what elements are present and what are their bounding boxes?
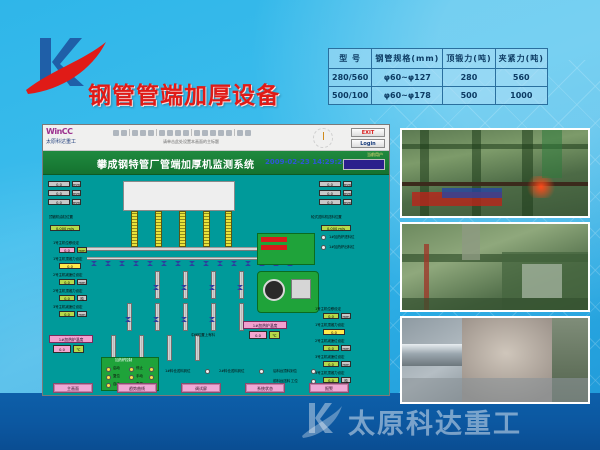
setpoint-label: 2号主机顶锻力设定 [53,289,82,294]
cell-upset-force: 500 [443,87,495,105]
right-readout-1-unit: mm [343,181,352,187]
col-header-upset-force: 顶锻力(吨) [443,49,495,69]
cell-upset-force: 280 [443,69,495,87]
analog-clock-icon [313,128,333,148]
left-readout-3: 0.0 [48,199,70,205]
setpoint-label: 1号主机顶锻力设定 [315,323,344,328]
status-lamp [259,369,264,374]
col-header-clamp-force: 夹紧力(吨) [495,49,547,69]
valve-icon [203,261,209,266]
setpoint-label: 1号主机顶锻力设定 [53,257,82,262]
setpoint-value[interactable]: 0.0 [59,311,75,317]
right-group-title: 轮式送料机送料位置 [311,215,342,220]
person-icon[interactable] [183,130,189,136]
right-readout-1: 0.0 [319,181,341,187]
setpoint-unit: 吨 [77,295,87,301]
cell-clamp-force: 1000 [495,87,547,105]
setpoint-unit: mm [77,311,87,317]
right-readout-2: 0.0 [319,190,341,196]
heater-column [203,211,210,247]
setpoint-label: 1号主机位移设定 [315,307,341,312]
current-user-field[interactable] [343,159,385,170]
right-readout-3-unit: mm [343,199,352,205]
setpoint-value[interactable]: 0.0 [323,345,339,351]
cell-pipe-spec: φ60~φ127 [372,69,443,87]
exit-button[interactable]: EXIT [351,128,385,137]
left-readout-1: 0.0 [48,181,70,187]
hot-bar-indicator [261,237,287,242]
setpoint-label: 1号主机位移设定 [53,241,79,246]
header: 钢管管端加厚设备 [0,30,340,100]
wincc-logo: WinCC 太原科达重工 [46,127,108,149]
hydraulic-cylinder [195,335,200,361]
valve-icon [245,261,251,266]
furnace-temp-unit: ℃ [73,345,84,353]
table-row: 280/560 φ60~φ127 280 560 [329,69,548,87]
nav-button-main[interactable]: 主画面 [53,383,93,393]
setpoint-label: 3号主机减速位设定 [315,355,344,360]
furnace-temp-label: 1#加热炉温度 [49,335,93,343]
left-readout-3-unit: mm [72,199,81,205]
sensor-led [321,235,326,240]
center-note: 中间位置上有料 [191,333,215,338]
keda-k-logo [300,400,344,440]
status-led [149,375,154,380]
status-led [149,367,154,372]
hmi-datetime: 2009-02-23 14:29:24 [265,158,347,166]
heater-column [179,211,186,247]
hmi-system-title: 攀成钢特管厂管端加厚机监测系统 [97,156,255,171]
machine-flywheel [263,279,285,301]
heat-tag-unit: ℃ [269,331,280,339]
panel-button-label[interactable]: 启动 [113,366,120,371]
left-speed-readout: 0.000 m/s [50,225,80,231]
clock-hand [323,132,324,140]
check-icon[interactable] [132,130,138,136]
watermark-text: 太原科达重工 [348,402,522,441]
left-group-title: 顶锻机油缸位置 [49,215,73,220]
toolbar-separator [156,129,157,136]
align-right-icon[interactable] [210,130,216,136]
setpoint-value[interactable]: 0.0 [59,263,81,269]
setpoint-label: 2号主机减速位设定 [53,273,82,278]
valve-icon [119,261,125,266]
conveyor-rail [87,247,277,251]
cell-model: 280/560 [329,69,372,87]
status-lamp-label: 1#料仓送料到位 [165,369,190,374]
page-title: 钢管管端加厚设备 [88,76,280,110]
heat-tag-label: 1#加热炉温度 [243,321,287,329]
left-readout-2: 0.0 [48,190,70,196]
current-user-label: 当前用户 [367,152,383,158]
hmi-title-bar: 攀成钢特管厂管端加厚机监测系统 2009-02-23 14:29:24 当前用户 [43,151,389,175]
print-icon[interactable] [121,130,127,136]
hmi-window: WinCC 太原科达重工 请单击此处设置本画面的主标题 [42,124,390,396]
panel-button-label[interactable]: 复位 [113,374,120,379]
check-all-icon[interactable] [140,130,146,136]
setpoint-value[interactable]: 0.0 [323,329,345,335]
cursor-icon[interactable] [148,130,154,136]
panel-button-label[interactable]: 停止 [136,366,143,371]
login-button[interactable]: Login [351,139,385,148]
text-icon[interactable] [159,130,165,136]
setpoint-label: 2号主机减速位设定 [315,339,344,344]
nav-button-status[interactable]: 系统状态 [245,383,285,393]
table-header-row: 型 号 钢管规格(mm) 顶锻力(吨) 夹紧力(吨) [329,49,548,69]
nav-button-alarm[interactable]: 报警 [309,383,349,393]
setpoint-value[interactable]: 0.0 [323,313,339,319]
status-led [129,367,134,372]
setpoint-value[interactable]: 0.0 [59,247,75,253]
col-header-model: 型 号 [329,49,372,69]
align-left-icon[interactable] [194,130,200,136]
hmi-icon-toolbar[interactable] [113,127,313,138]
sensor-note-2: 1#加热炉出料位 [329,245,354,250]
status-led [106,383,111,388]
left-readout-1-unit: mm [72,181,81,187]
valve-icon [91,261,97,266]
hmi-toolbar-strip: WinCC 太原科达重工 请单击此处设置本画面的主标题 [43,125,389,151]
panel-button-label[interactable]: 手动 [136,374,143,379]
setpoint-unit: mm [77,247,87,253]
status-lamp [311,369,316,374]
toolbar-separator [191,129,192,136]
setpoint-label: 3号主机减速位设定 [53,305,82,310]
photo-forging-line [400,128,590,218]
sensor-led [321,245,326,250]
valve-icon [147,261,153,266]
valve-icon [133,261,139,266]
sensor-note-1: 1#加热炉进料位 [329,235,354,240]
align-center-icon[interactable] [202,130,208,136]
table-row: 500/100 φ60~φ178 500 1000 [329,87,548,105]
setpoint-label: 3号主机顶锻力设定 [315,371,344,376]
toolbar-separator [129,129,130,136]
heater-column [225,211,232,247]
nav-button-trend[interactable]: 趋势曲线 [117,383,157,393]
cell-model: 500/100 [329,87,372,105]
valve-icon [161,261,167,266]
color-icon[interactable] [175,130,181,136]
heat-tag-value: 0.0 [249,331,267,339]
hot-bar-indicator [261,245,287,250]
setpoint-unit: mm [77,279,87,285]
valve-icon [175,261,181,266]
status-led [106,375,111,380]
photo-pipe-closeup [400,316,590,404]
nav-button-debug[interactable]: 调试屏 [181,383,221,393]
watermark: 太原科达重工 [300,398,590,444]
valve-icon [189,261,195,266]
setpoint-value[interactable]: 0.0 [323,361,339,367]
hydraulic-cylinder [167,335,172,361]
help-icon[interactable] [245,130,251,136]
font-icon[interactable] [167,130,173,136]
setpoint-unit: mm [341,345,351,351]
cell-clamp-force: 560 [495,69,547,87]
heater-column [155,211,162,247]
furnace-plate [123,181,235,211]
setpoint-unit: mm [341,361,351,367]
furnace-control-panel-title: 加热炉控制 [115,358,132,363]
valve-icon [105,261,111,266]
machine-block [291,279,311,299]
zoom-icon[interactable] [226,130,232,136]
save-icon[interactable] [113,130,119,136]
status-led [106,367,111,372]
wincc-wordmark: WinCC [46,127,108,136]
right-readout-3: 0.0 [319,199,341,205]
right-readout-2-unit: mm [343,190,352,196]
toolbar-separator [234,129,235,136]
wincc-company-sub: 太原科达重工 [46,138,108,145]
hmi-process-canvas: 顶锻机油缸位置 0.0 mm 0.0 mm 0.0 mm 0.000 m/s 轮… [43,175,389,396]
grid-icon[interactable] [218,130,224,136]
valve-icon [217,261,223,266]
cell-pipe-spec: φ60~φ178 [372,87,443,105]
photo-machine-hall [400,222,590,312]
valve-icon [231,261,237,266]
clock-icon[interactable] [237,130,243,136]
setpoint-value[interactable]: 0.0 [59,279,75,285]
setpoint-unit: mm [341,313,351,319]
status-lamp [205,369,210,374]
col-header-pipe-spec: 钢管规格(mm) [372,49,443,69]
status-lamp-label: 后料台顶料到位 [273,369,297,374]
left-readout-2-unit: mm [72,190,81,196]
status-led [129,375,134,380]
furnace-temp-value: 0.0 [53,345,71,353]
setpoint-value[interactable]: 0.0 [59,295,75,301]
heater-column [131,211,138,247]
spec-table: 型 号 钢管规格(mm) 顶锻力(吨) 夹紧力(吨) 280/560 φ60~φ… [328,48,548,105]
right-speed-readout: 0.000 m/s [321,225,351,231]
status-lamp-label: 2#料仓送料到位 [219,369,244,374]
hmi-toolbar-caption: 请单击此处设置本画面的主标题 [163,139,219,145]
